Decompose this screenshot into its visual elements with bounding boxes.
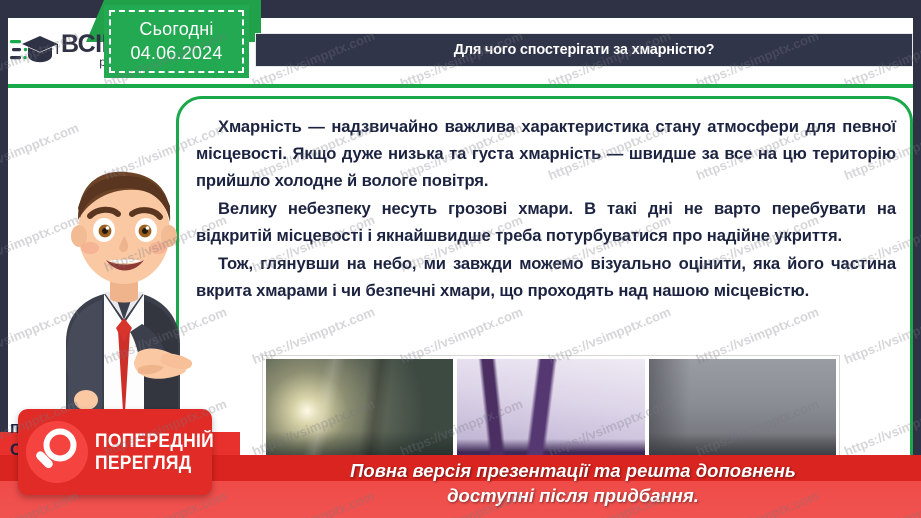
photo-overcast-grey-sky bbox=[649, 359, 836, 459]
paragraph-3: Тож, глянувши на небо, ми завжди можемо … bbox=[196, 250, 896, 304]
paragraph-1: Хмарність — надзвичайно важлива характер… bbox=[196, 113, 896, 194]
banner-message: Повна версія презентації та решта доповн… bbox=[253, 458, 893, 508]
today-date-badge: Сьогодні 04.06.2024 bbox=[104, 5, 249, 78]
body-text-block: Хмарність — надзвичайно важлива характер… bbox=[196, 113, 896, 305]
graduation-cap-icon bbox=[10, 31, 58, 69]
paragraph-2: Велику небезпеку несуть грозові хмари. В… bbox=[196, 195, 896, 249]
banner-line-1: Повна версія презентації та решта доповн… bbox=[253, 458, 893, 483]
image-gallery bbox=[262, 355, 840, 463]
magnifier-icon bbox=[26, 421, 88, 483]
preview-badge-line-2: ПЕРЕГЛЯД bbox=[95, 454, 214, 473]
photo-bare-trees-sky bbox=[457, 359, 644, 459]
businessman-pointing-character bbox=[30, 128, 198, 428]
presentation-slide: ВСІМ pptx Сьогодні 04.06.2024 Для чого с… bbox=[0, 0, 921, 518]
header-divider bbox=[8, 84, 913, 88]
date-badge-date: 04.06.2024 bbox=[130, 43, 222, 65]
date-badge-label: Сьогодні bbox=[139, 19, 213, 41]
page-title: Для чого спостерігати за хмарністю? bbox=[454, 42, 715, 58]
preview-badge[interactable]: ПОПЕРЕДНІЙ ПЕРЕГЛЯД bbox=[18, 409, 212, 495]
preview-badge-line-1: ПОПЕРЕДНІЙ bbox=[95, 432, 214, 451]
photo-moonlit-clouds bbox=[266, 359, 453, 459]
slide-title-bar: Для чого спостерігати за хмарністю? bbox=[255, 33, 913, 67]
banner-line-2: доступні після придбання. bbox=[253, 483, 893, 508]
preview-badge-labels: ПОПЕРЕДНІЙ ПЕРЕГЛЯД bbox=[95, 432, 224, 473]
